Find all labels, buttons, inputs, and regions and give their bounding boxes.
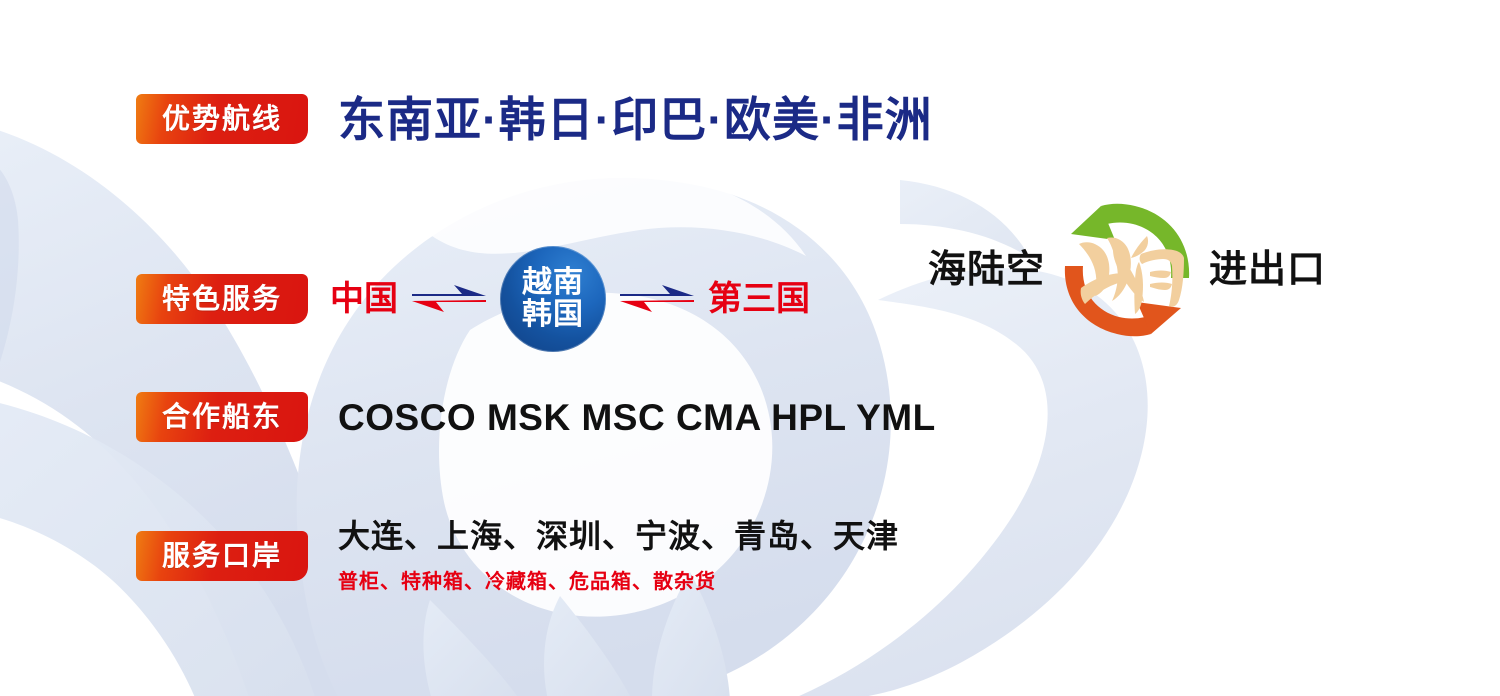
badge-label: 服务口岸 [162, 542, 282, 570]
badge-advantage-routes[interactable]: 优势航线 [136, 94, 308, 144]
badge-label: 特色服务 [162, 285, 282, 313]
row-body-routes: 东南亚·韩日·印巴·欧美·非洲 [338, 96, 933, 143]
flow-origin-label: 中国 [330, 282, 398, 316]
hub-circle-vietnam-korea: 越南 韩国 [500, 246, 606, 352]
row-special-service: 特色服务 中国 越南 韩国 第三国 [136, 246, 810, 352]
promo-banner: 优势航线 东南亚·韩日·印巴·欧美·非洲 特色服务 中国 越南 韩国 [0, 0, 1500, 696]
badge-label: 合作船东 [162, 403, 282, 431]
import-export-label: 进出口 [1209, 251, 1326, 289]
badge-partner-carriers[interactable]: 合作船东 [136, 392, 308, 442]
carriers-list: COSCO MSK MSC CMA HPL YML [338, 399, 936, 436]
badge-label: 优势航线 [162, 105, 282, 133]
row-advantage-routes: 优势航线 东南亚·韩日·印巴·欧美·非洲 [136, 94, 933, 144]
badge-special-service[interactable]: 特色服务 [136, 274, 308, 324]
bidirectional-import-export-block: 海陆空 进出口 [928, 196, 1326, 344]
sea-land-air-label: 海陆空 [928, 251, 1045, 289]
bidirectional-arrow-icon [618, 282, 696, 316]
row-partner-carriers: 合作船东 COSCO MSK MSC CMA HPL YML [136, 392, 936, 442]
row-service-ports: 服务口岸 大连、上海、深圳、宁波、青岛、天津 普柜、特种箱、冷藏箱、危品箱、散杂… [136, 520, 899, 592]
badge-service-ports[interactable]: 服务口岸 [136, 531, 308, 581]
ports-list: 大连、上海、深圳、宁波、青岛、天津 [338, 520, 899, 552]
hub-line-1: 越南 [522, 267, 584, 299]
row-body-ports: 大连、上海、深圳、宁波、青岛、天津 普柜、特种箱、冷藏箱、危品箱、散杂货 [338, 520, 899, 592]
two-way-cycle-arrows-icon [1051, 196, 1203, 344]
routes-headline: 东南亚·韩日·印巴·欧美·非洲 [338, 96, 933, 143]
flow-destination-label: 第三国 [708, 282, 810, 316]
row-body-carriers: COSCO MSK MSC CMA HPL YML [338, 399, 936, 436]
cargo-types-list: 普柜、特种箱、冷藏箱、危品箱、散杂货 [338, 572, 899, 592]
bidirectional-arrow-icon [410, 282, 488, 316]
hub-line-2: 韩国 [522, 299, 584, 331]
service-flow-diagram: 中国 越南 韩国 第三国 [330, 246, 810, 352]
